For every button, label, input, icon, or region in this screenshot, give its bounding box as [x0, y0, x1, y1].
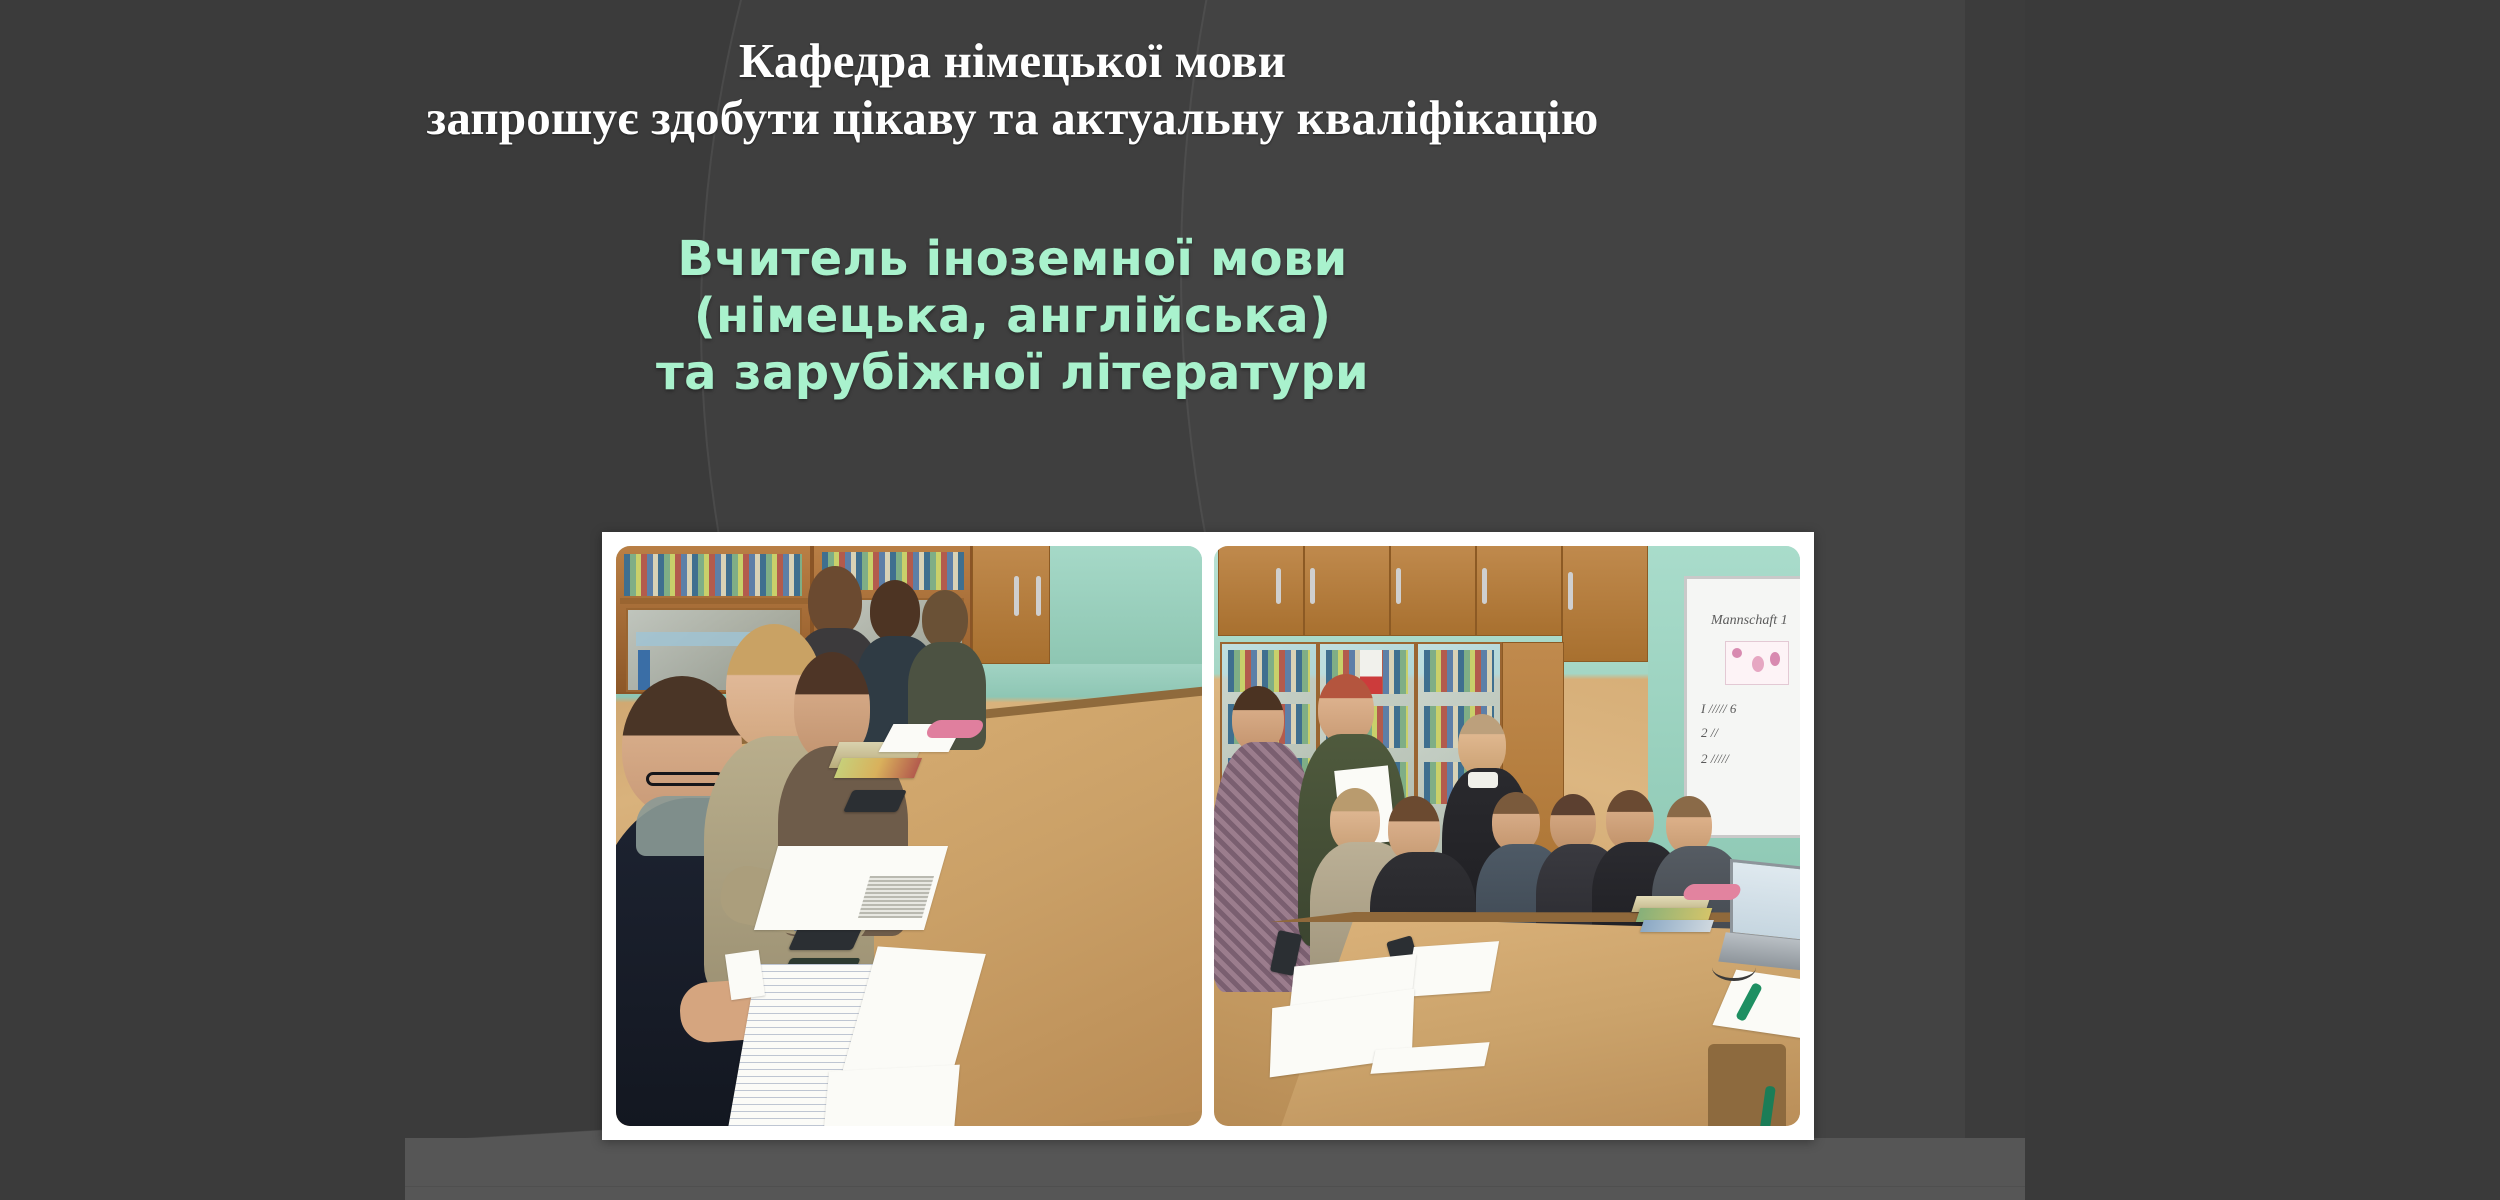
- person-head-back-1: [808, 566, 862, 636]
- subtitle-line-3: та зарубіжної літератури: [0, 345, 2025, 402]
- wall-green-left-photo: [1050, 546, 1202, 664]
- whiteboard-note-1: I ///// 6: [1701, 701, 1736, 717]
- paper-sheet-bottom: [822, 1065, 960, 1126]
- person-head-standing-3: [1458, 714, 1506, 776]
- paper-note-small: [725, 950, 765, 1000]
- slide-headline: Кафедра німецької мови запрошує здобути …: [0, 32, 2025, 147]
- cabinet-handle-b: [1036, 576, 1041, 616]
- person-head-seated-5: [1606, 790, 1654, 850]
- headline-line-2: запрошує здобути цікаву та актуальну ква…: [0, 89, 2025, 146]
- whiteboard: Mannschaft 1 I ///// 6 2 // 2 /////: [1684, 576, 1800, 838]
- person-head-seated-3: [1492, 792, 1540, 852]
- textbook-illustration: [858, 876, 934, 918]
- cabinet-top-2: [1304, 546, 1390, 636]
- whiteboard-poster: [1725, 641, 1789, 685]
- cabinet-top-5: [1562, 546, 1648, 662]
- photo-left-classroom: [616, 546, 1202, 1126]
- bottom-accent-band-line: [405, 1186, 2025, 1187]
- bookshelf-books-1a: [1228, 650, 1310, 692]
- whiteboard-note-3: 2 /////: [1701, 751, 1729, 767]
- whiteboard-note-2: 2 //: [1701, 725, 1718, 741]
- glasses-icon: [646, 772, 724, 786]
- collar-standing-3: [1468, 772, 1498, 788]
- subtitle-line-1: Вчитель іноземної мови: [0, 231, 2025, 288]
- phone-on-table-1: [843, 790, 907, 812]
- laptop-screen: [1730, 859, 1800, 945]
- cabinet-top-handle-2: [1310, 568, 1315, 604]
- cabinet-top-4: [1476, 546, 1562, 636]
- headline-line-1: Кафедра німецької мови: [0, 32, 2025, 89]
- subtitle-line-2: (німецька, англійська): [0, 288, 2025, 345]
- cable-laptop: [1712, 954, 1756, 981]
- shelf-books-top-left: [624, 554, 802, 596]
- paper-right-1: [1405, 941, 1499, 997]
- chair-back-right: [1708, 1044, 1786, 1126]
- book-stack-right-3: [1640, 920, 1714, 932]
- slide-subtitle: Вчитель іноземної мови (німецька, англій…: [0, 231, 2025, 402]
- photo-collage-frame: Mannschaft 1 I ///// 6 2 // 2 /////: [602, 532, 1814, 1140]
- photo-right-classroom: Mannschaft 1 I ///// 6 2 // 2 /////: [1214, 546, 1800, 1126]
- table-edge-right: [1270, 912, 1800, 922]
- bookshelf-books-3a: [1424, 650, 1494, 692]
- book-colored-left-photo: [834, 758, 922, 778]
- cabinet-top-3: [1390, 546, 1476, 636]
- pencil-case-right: [1681, 884, 1742, 900]
- decorative-right-seam: [1965, 0, 2025, 1200]
- shelf-divider-left: [620, 598, 808, 604]
- cabinet-top-handle-1: [1276, 568, 1281, 604]
- presentation-slide: Кафедра німецької мови запрошує здобути …: [0, 0, 2500, 1200]
- cabinet-top-1: [1218, 546, 1304, 636]
- person-head-back-3: [922, 590, 968, 648]
- person-head-back-2: [870, 580, 920, 642]
- cabinet-handle-a: [1014, 576, 1019, 616]
- bottom-accent-band: [405, 1138, 2025, 1200]
- cabinet-top-handle-4: [1482, 568, 1487, 604]
- cabinet-top-handle-3: [1396, 568, 1401, 604]
- offslide-right-area: [2025, 0, 2500, 1200]
- shelf-book-blue-left: [638, 650, 650, 690]
- whiteboard-heading-text: Mannschaft 1: [1711, 613, 1788, 629]
- cabinet-top-handle-5: [1568, 572, 1573, 610]
